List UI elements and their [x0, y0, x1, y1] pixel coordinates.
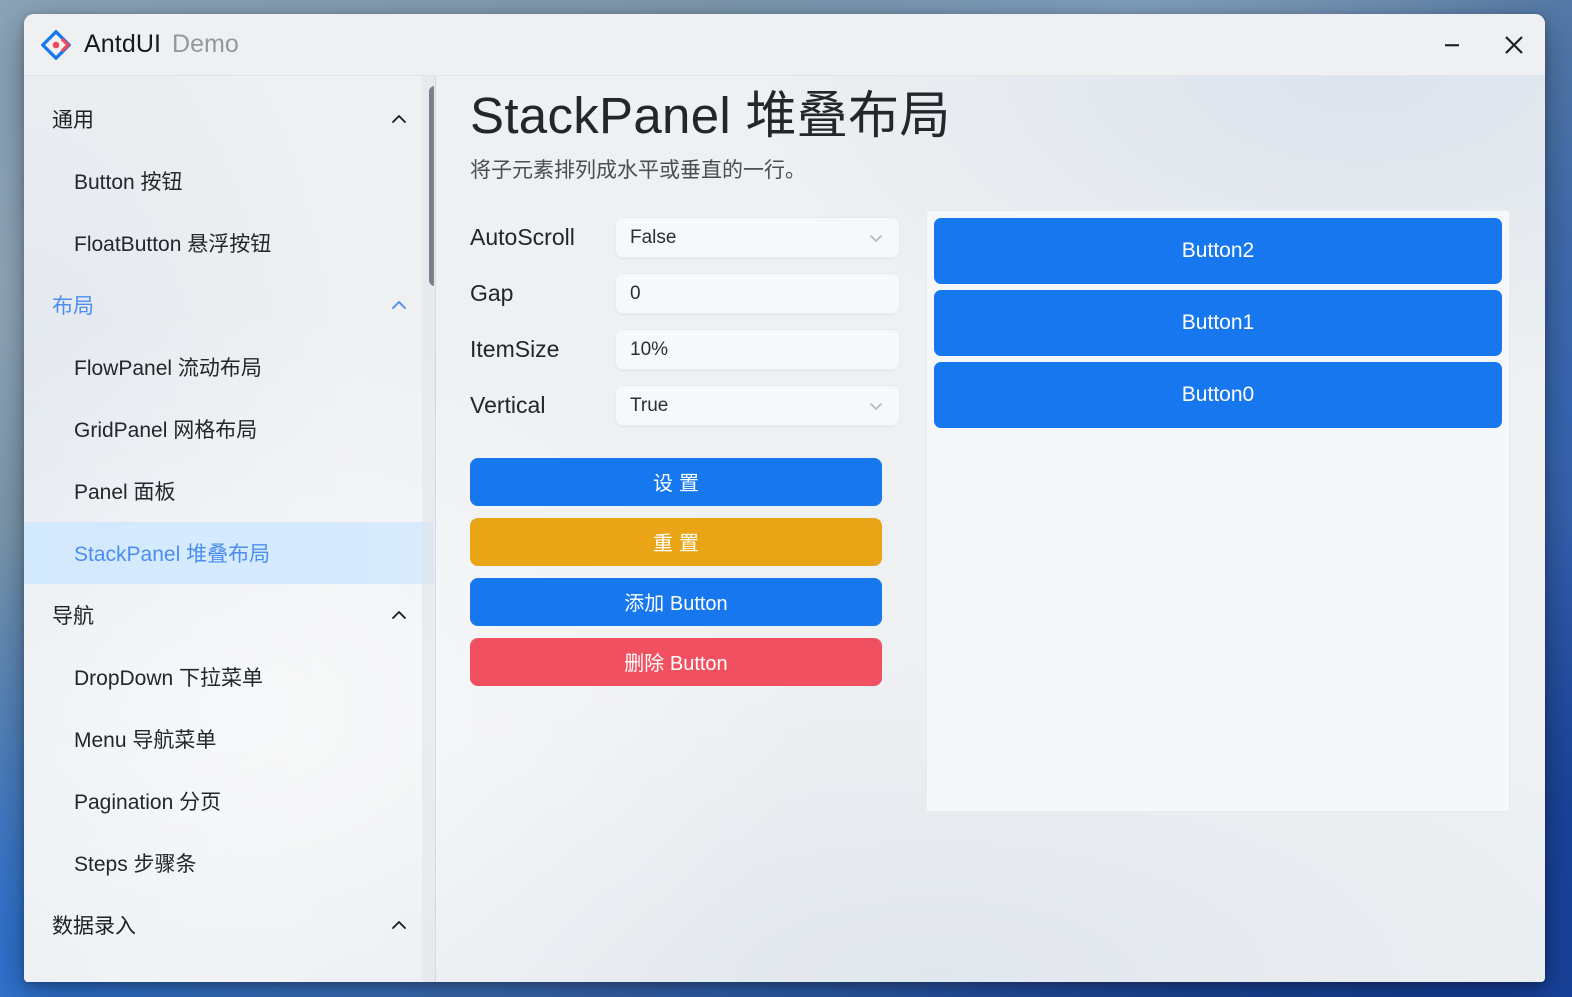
antd-logo-icon [41, 30, 71, 60]
close-button[interactable] [1483, 14, 1545, 75]
reset-button[interactable]: 重置 [470, 518, 882, 566]
apply-settings-button[interactable]: 设置 [470, 458, 882, 506]
sidebar-item-label: GridPanel 网格布局 [74, 414, 257, 444]
vertical-select[interactable]: True [615, 385, 900, 426]
sidebar-group-data-entry[interactable]: 数据录入 [24, 894, 434, 956]
settings-form: AutoScroll False Gap 0 [470, 210, 900, 812]
gap-label: Gap [470, 280, 615, 307]
sidebar-group-label: 通用 [52, 104, 94, 134]
itemsize-input[interactable]: 10% [615, 329, 900, 370]
chevron-up-icon [388, 294, 410, 316]
main-content: StackPanel 堆叠布局 将子元素排列成水平或垂直的一行。 AutoScr… [436, 76, 1545, 982]
window-controls [1421, 14, 1545, 75]
sidebar-group-navigation[interactable]: 导航 [24, 584, 434, 646]
sidebar-item-floatbutton[interactable]: FloatButton 悬浮按钮 [24, 212, 434, 274]
window-body: 通用 Button 按钮 FloatButton 悬浮按钮 布局 FlowPan… [24, 76, 1545, 982]
sidebar-item-menu[interactable]: Menu 导航菜单 [24, 708, 434, 770]
sidebar-group-label: 布局 [52, 290, 94, 320]
itemsize-label: ItemSize [470, 336, 615, 363]
itemsize-value: 10% [630, 339, 668, 361]
sidebar-item-label: DropDown 下拉菜单 [74, 662, 263, 692]
minimize-button[interactable] [1421, 14, 1483, 75]
page-title: StackPanel 堆叠布局 [470, 84, 1545, 148]
sidebar-item-panel[interactable]: Panel 面板 [24, 460, 434, 522]
chevron-down-icon [866, 396, 886, 416]
sidebar-item-button[interactable]: Button 按钮 [24, 150, 434, 212]
close-icon [1501, 32, 1527, 58]
page-description: 将子元素排列成水平或垂直的一行。 [470, 154, 1545, 184]
sidebar-item-label: Pagination 分页 [74, 786, 221, 816]
autoscroll-label: AutoScroll [470, 224, 615, 251]
app-subtitle: Demo [172, 30, 239, 59]
sidebar-scrollbar-thumb[interactable] [429, 86, 434, 286]
gap-value: 0 [630, 283, 641, 305]
sidebar-group-label: 数据录入 [52, 910, 136, 940]
preview-button-2[interactable]: Button2 [934, 218, 1502, 284]
content-panels: AutoScroll False Gap 0 [470, 210, 1545, 812]
sidebar-item-label: Steps 步骤条 [74, 848, 197, 878]
sidebar-group-layout[interactable]: 布局 [24, 274, 434, 336]
sidebar-item-label: Button 按钮 [74, 166, 183, 196]
sidebar-item-gridpanel[interactable]: GridPanel 网格布局 [24, 398, 434, 460]
sidebar-item-flowpanel[interactable]: FlowPanel 流动布局 [24, 336, 434, 398]
sidebar-item-pagination[interactable]: Pagination 分页 [24, 770, 434, 832]
gap-input[interactable]: 0 [615, 273, 900, 314]
chevron-up-icon [388, 604, 410, 626]
form-row-itemsize: ItemSize 10% [470, 322, 900, 378]
stackpanel-preview: Button2 Button1 Button0 [926, 210, 1510, 812]
form-row-autoscroll: AutoScroll False [470, 210, 900, 266]
preview-button-1[interactable]: Button1 [934, 290, 1502, 356]
delete-button-button[interactable]: 删除 Button [470, 638, 882, 686]
sidebar-group-general[interactable]: 通用 [24, 88, 434, 150]
chevron-down-icon [866, 228, 886, 248]
sidebar-item-dropdown[interactable]: DropDown 下拉菜单 [24, 646, 434, 708]
vertical-label: Vertical [470, 392, 615, 419]
sidebar-item-stackpanel[interactable]: StackPanel 堆叠布局 [24, 522, 434, 584]
sidebar-item-label: Panel 面板 [74, 476, 176, 506]
sidebar-item-label: FlowPanel 流动布局 [74, 352, 262, 382]
form-row-gap: Gap 0 [470, 266, 900, 322]
add-button-button[interactable]: 添加 Button [470, 578, 882, 626]
autoscroll-select[interactable]: False [615, 217, 900, 258]
app-window: AntdUI Demo 通用 [24, 14, 1545, 982]
title-bar: AntdUI Demo [24, 14, 1545, 76]
vertical-value: True [630, 395, 668, 417]
sidebar-item-label: StackPanel 堆叠布局 [74, 538, 270, 568]
autoscroll-value: False [630, 227, 676, 249]
minimize-icon [1442, 35, 1462, 55]
preview-button-0[interactable]: Button0 [934, 362, 1502, 428]
form-row-vertical: Vertical True [470, 378, 900, 434]
chevron-up-icon [388, 108, 410, 130]
sidebar-item-label: Menu 导航菜单 [74, 724, 216, 754]
sidebar: 通用 Button 按钮 FloatButton 悬浮按钮 布局 FlowPan… [24, 76, 434, 982]
sidebar-item-label: FloatButton 悬浮按钮 [74, 228, 271, 258]
sidebar-group-label: 导航 [52, 600, 94, 630]
preview-area: Button2 Button1 Button0 [900, 210, 1545, 812]
chevron-up-icon [388, 914, 410, 936]
app-name: AntdUI [84, 30, 161, 59]
sidebar-item-steps[interactable]: Steps 步骤条 [24, 832, 434, 894]
